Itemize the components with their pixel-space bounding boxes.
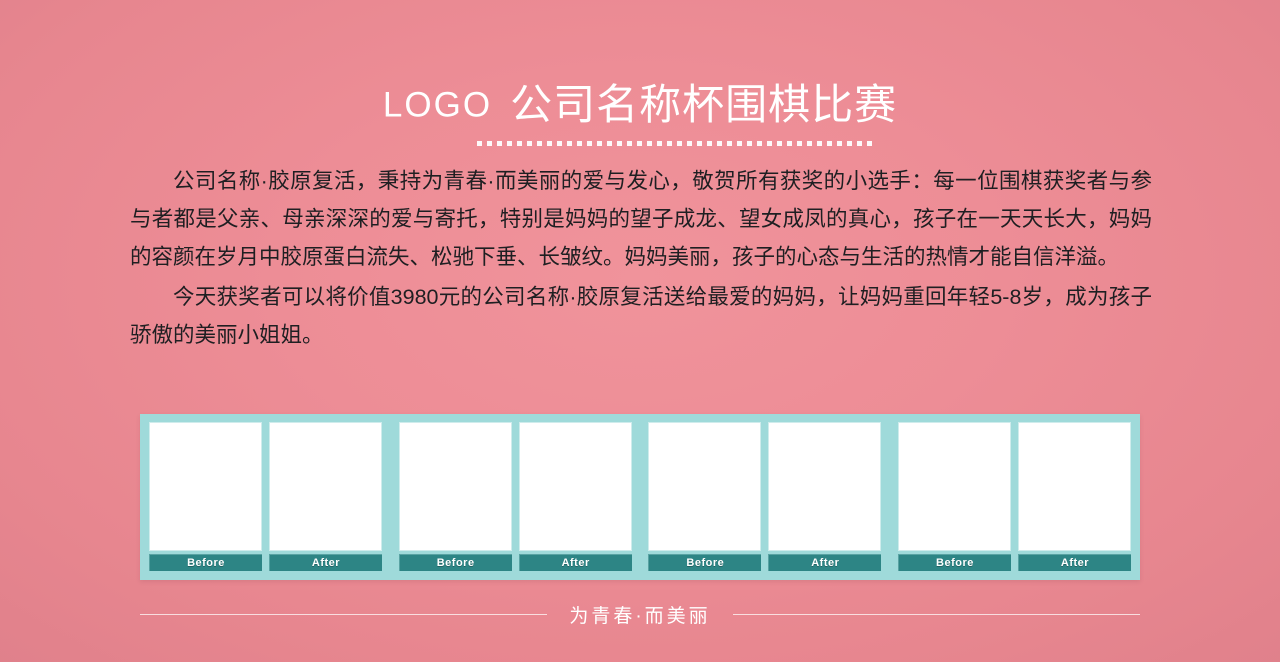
photo-placeholder[interactable] — [269, 422, 382, 551]
photo-card-after[interactable]: After — [269, 422, 382, 571]
photo-placeholder[interactable] — [519, 422, 632, 551]
photo-placeholder[interactable] — [399, 422, 512, 551]
footer: 为青春·而美丽 — [140, 596, 1140, 632]
before-after-pair: Before After — [648, 422, 881, 571]
photo-label: Before — [399, 554, 512, 571]
photo-placeholder[interactable] — [648, 422, 761, 551]
title-row: LOGO公司名称杯围棋比赛 — [383, 84, 897, 126]
photo-card-before[interactable]: Before — [648, 422, 761, 571]
before-after-pair: Before After — [898, 422, 1131, 571]
photo-card-before[interactable]: Before — [898, 422, 1011, 571]
before-after-pair: Before After — [399, 422, 632, 571]
photo-label: Before — [898, 554, 1011, 571]
photo-card-before[interactable]: Before — [399, 422, 512, 571]
photo-card-after[interactable]: After — [519, 422, 632, 571]
before-after-gallery: Before After Before After Before — [140, 414, 1140, 580]
body-paragraph-1: 公司名称·胶原复活，秉持为青春·而美丽的爱与发心，敬贺所有获奖的小选手：每一位围… — [130, 162, 1152, 276]
photo-label: Before — [648, 554, 761, 571]
poster-canvas: LOGO公司名称杯围棋比赛 公司名称·胶原复活，秉持为青春·而美丽的爱与发心，敬… — [0, 0, 1280, 662]
photo-label: After — [1018, 554, 1131, 571]
footer-rule-left — [140, 614, 547, 615]
title-dashed-underline — [477, 141, 873, 146]
photo-card-before[interactable]: Before — [149, 422, 262, 571]
photo-label: Before — [149, 554, 262, 571]
footer-slogan: 为青春·而美丽 — [547, 601, 732, 628]
title-block: LOGO公司名称杯围棋比赛 — [0, 84, 1280, 126]
body-paragraph-2: 今天获奖者可以将价值3980元的公司名称·胶原复活送给最爱的妈妈，让妈妈重回年轻… — [130, 278, 1152, 354]
photo-label: After — [269, 554, 382, 571]
photo-label: After — [519, 554, 632, 571]
photo-placeholder[interactable] — [898, 422, 1011, 551]
photo-placeholder[interactable] — [149, 422, 262, 551]
photo-label: After — [768, 554, 881, 571]
logo-text: LOGO — [383, 86, 492, 125]
page-title: 公司名称杯围棋比赛 — [510, 81, 897, 128]
photo-placeholder[interactable] — [1018, 422, 1131, 551]
body-copy: 公司名称·胶原复活，秉持为青春·而美丽的爱与发心，敬贺所有获奖的小选手：每一位围… — [130, 162, 1152, 354]
photo-card-after[interactable]: After — [1018, 422, 1131, 571]
before-after-pair: Before After — [149, 422, 382, 571]
photo-placeholder[interactable] — [768, 422, 881, 551]
photo-card-after[interactable]: After — [768, 422, 881, 571]
footer-rule-right — [733, 614, 1140, 615]
